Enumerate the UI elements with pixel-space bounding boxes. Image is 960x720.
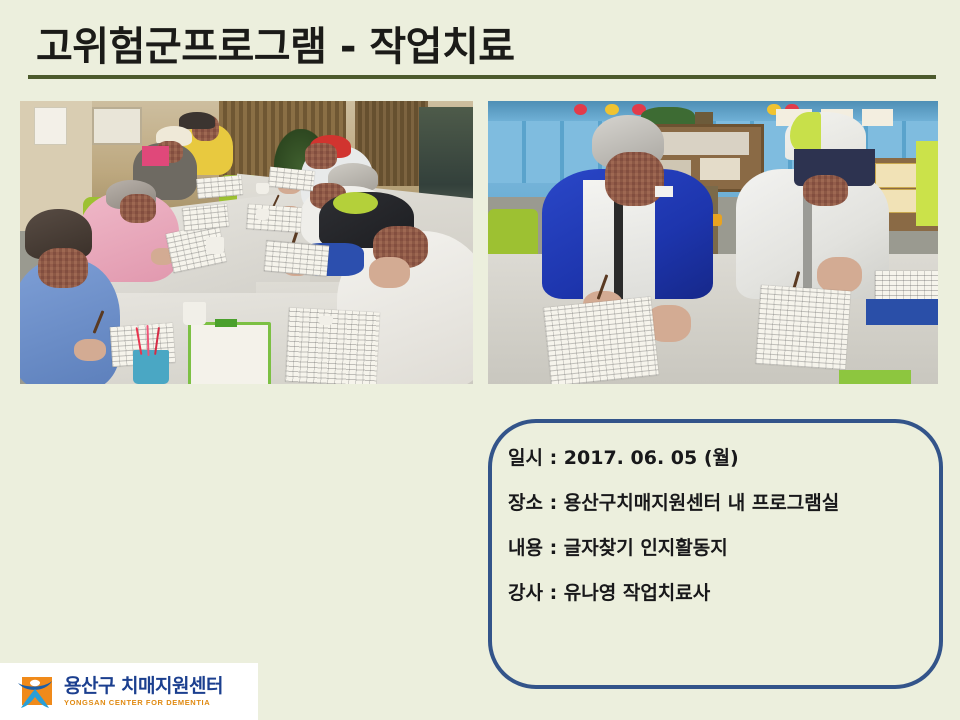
- photo-content-left: [20, 101, 473, 384]
- info-line-lecturer: 강사 : 유나영 작업치료사: [508, 583, 928, 605]
- photo-content-right: [488, 101, 938, 384]
- info-line-content: 내용 : 글자찾기 인지활동지: [508, 538, 928, 560]
- logo-english-name: YONGSAN CENTER FOR DEMENTIA: [64, 699, 223, 707]
- two-participants-photo: [488, 101, 938, 384]
- event-info-list: 일시 : 2017. 06. 05 (월) 장소 : 용산구치매지원센터 내 프…: [508, 448, 928, 604]
- logo-text-block: 용산구 치매지원센터 YONGSAN CENTER FOR DEMENTIA: [64, 677, 223, 707]
- yongsan-center-mark-icon: [16, 675, 54, 709]
- group-activity-photo: [20, 101, 473, 384]
- organization-logo: 용산구 치매지원센터 YONGSAN CENTER FOR DEMENTIA: [0, 663, 258, 720]
- logo-korean-name: 용산구 치매지원센터: [64, 677, 223, 696]
- page-title: 고위험군프로그램 - 작업치료: [36, 14, 515, 72]
- info-line-location: 장소 : 용산구치매지원센터 내 프로그램실: [508, 493, 928, 515]
- info-line-date: 일시 : 2017. 06. 05 (월): [508, 448, 928, 470]
- title-divider: [28, 75, 936, 79]
